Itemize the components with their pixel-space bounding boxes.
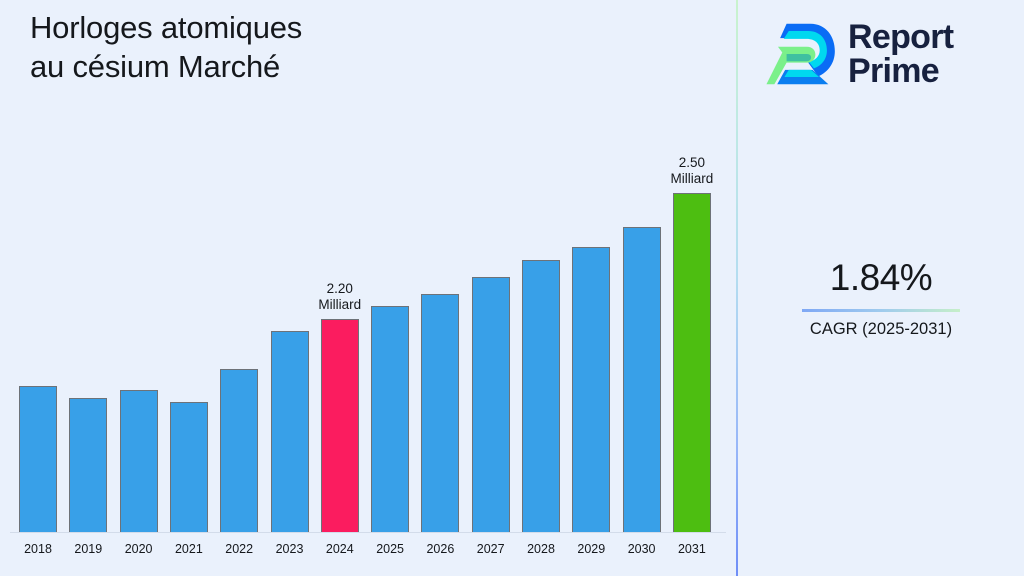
bar-2020 [120, 390, 158, 532]
value-label-2024: 2.20 Milliard [290, 281, 390, 313]
bar-chart-plot: 2018201920202021202220232024202520262027… [0, 0, 736, 576]
x-tick-2029: 2029 [566, 542, 616, 557]
x-tick-2018: 2018 [13, 542, 63, 557]
x-axis-line [10, 532, 726, 533]
chart-panel: Horloges atomiques au césium Marché 2018… [0, 0, 736, 576]
bar-2021 [170, 402, 208, 532]
report-prime-logo: Report Prime [764, 12, 1014, 96]
x-tick-2019: 2019 [63, 542, 113, 557]
x-tick-2028: 2028 [516, 542, 566, 557]
x-tick-2022: 2022 [214, 542, 264, 557]
x-tick-2025: 2025 [365, 542, 415, 557]
x-tick-2031: 2031 [667, 542, 717, 557]
x-tick-2027: 2027 [466, 542, 516, 557]
value-label-2031: 2.50 Milliard [642, 155, 742, 187]
bar-2030 [623, 227, 661, 532]
bar-2018 [19, 386, 57, 532]
bar-2023 [271, 331, 309, 532]
bar-2028 [522, 260, 560, 532]
cagr-block: 1.84% CAGR (2025-2031) [738, 255, 1024, 339]
bar-2029 [572, 247, 610, 532]
bar-2019 [69, 398, 107, 532]
bar-2027 [472, 277, 510, 532]
infographic-root: Horloges atomiques au césium Marché 2018… [0, 0, 1024, 576]
cagr-value: 1.84% [738, 255, 1024, 300]
x-tick-2024: 2024 [315, 542, 365, 557]
report-prime-logo-icon [764, 18, 838, 90]
bar-2031 [673, 193, 711, 532]
cagr-caption: CAGR (2025-2031) [738, 319, 1024, 339]
bar-2024 [321, 319, 359, 532]
x-tick-2020: 2020 [114, 542, 164, 557]
summary-panel: Report Prime 1.84% CAGR (2025-2031) [738, 0, 1024, 576]
logo-wordmark: Report Prime [848, 20, 953, 88]
bar-2026 [421, 294, 459, 532]
x-tick-2026: 2026 [415, 542, 465, 557]
x-tick-2030: 2030 [617, 542, 667, 557]
x-tick-2021: 2021 [164, 542, 214, 557]
bar-2022 [220, 369, 258, 532]
cagr-divider [802, 309, 960, 312]
x-tick-2023: 2023 [265, 542, 315, 557]
bar-2025 [371, 306, 409, 532]
